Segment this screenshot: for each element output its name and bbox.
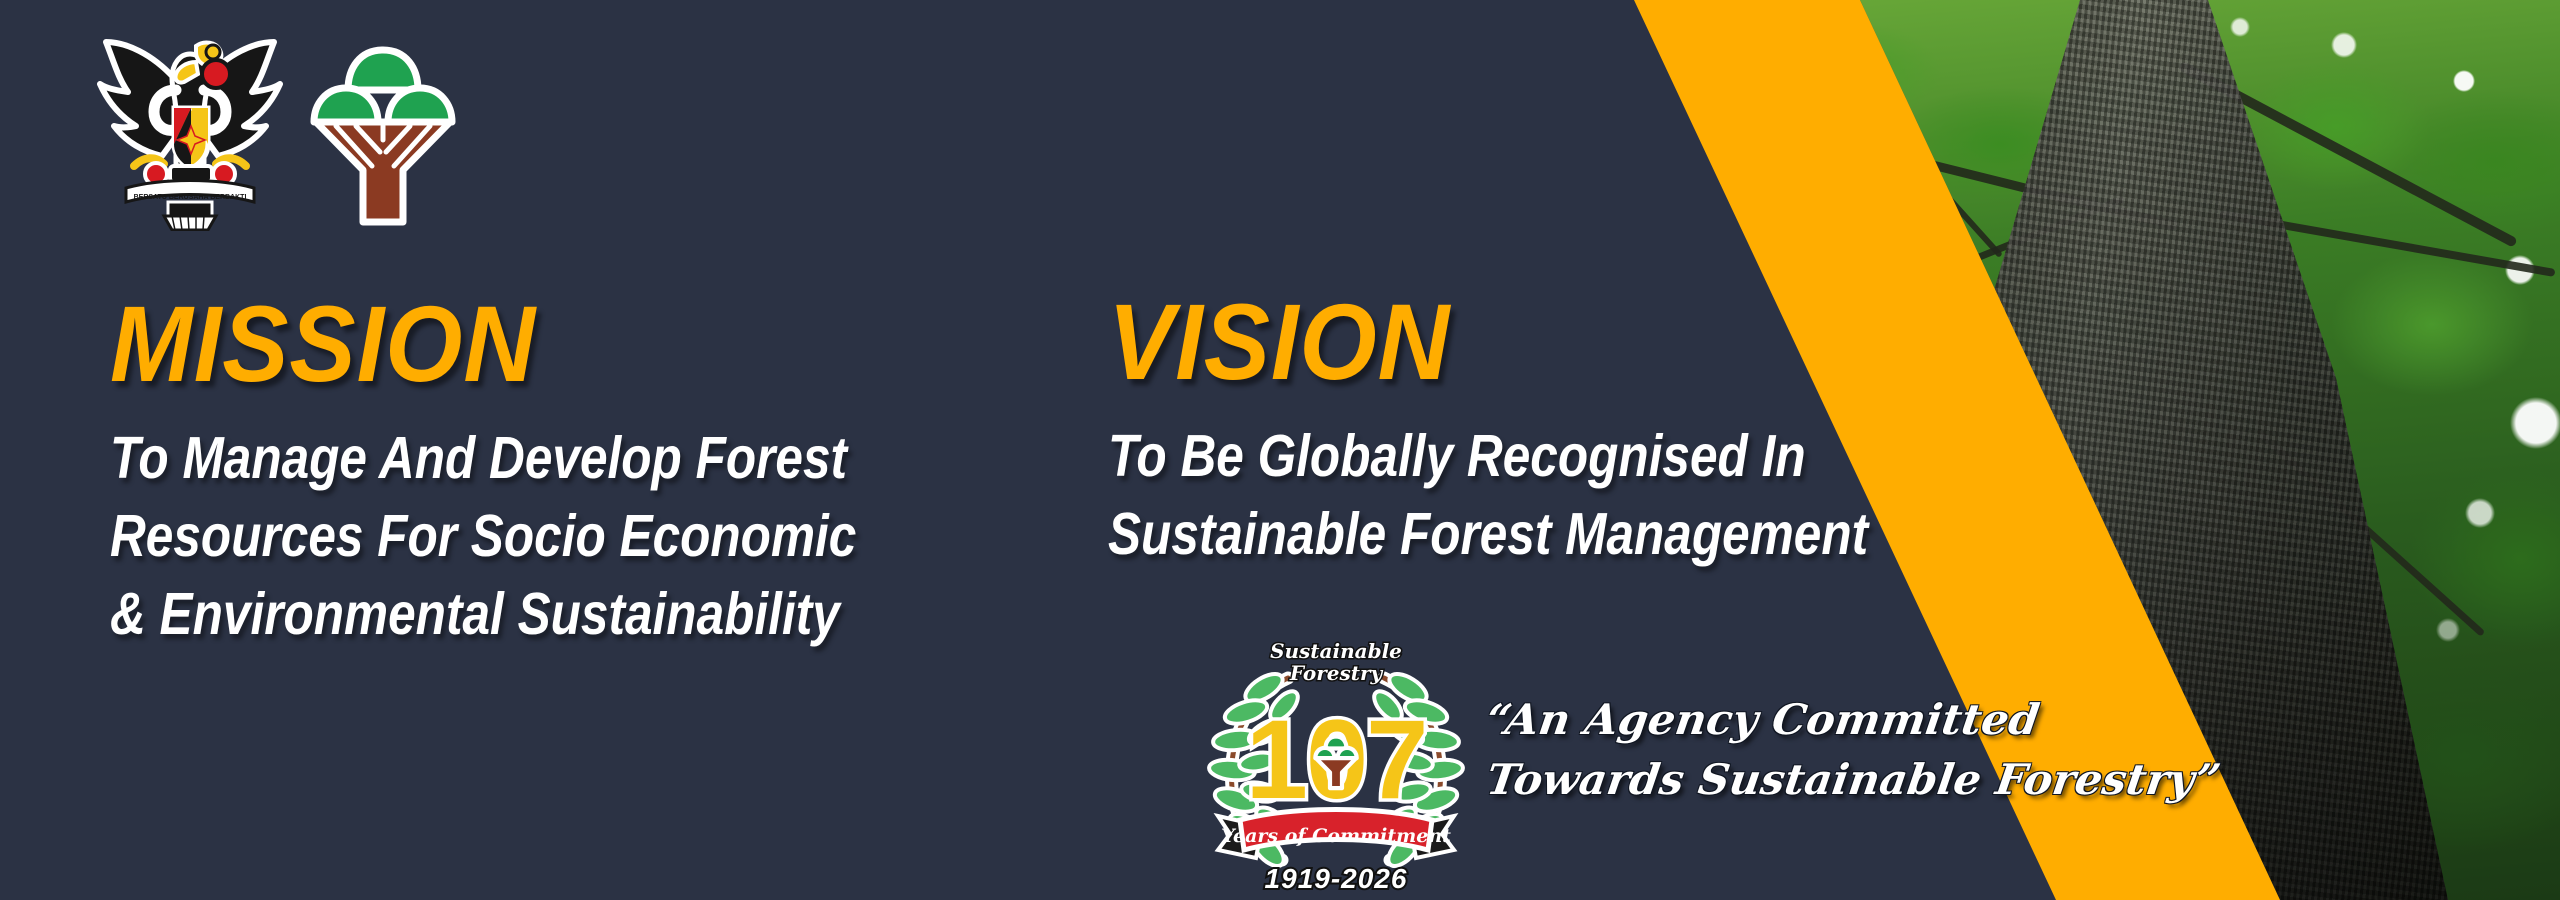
logo-group: BERSATU BERUSAHA BERBAKTI xyxy=(92,16,460,236)
vision-line-1: To Be Globally Recognised In xyxy=(1108,418,1931,496)
vision-heading: VISION xyxy=(1108,288,2010,396)
emblem-top-line-2: Forestry xyxy=(1289,661,1384,685)
mission-column: MISSION To Manage And Develop Forest Res… xyxy=(110,290,1070,654)
tagline-block: “An Agency Committed Towards Sustainable… xyxy=(1487,690,2087,809)
mission-line-2: Resources For Socio Economic xyxy=(110,498,916,576)
vision-column: VISION To Be Globally Recognised In Sust… xyxy=(1108,288,2088,574)
mission-heading: MISSION xyxy=(110,290,993,398)
emblem-years: 1919-2026 xyxy=(1265,863,1408,894)
mission-line-3: & Environmental Sustainability xyxy=(110,576,916,654)
vision-line-2: Sustainable Forest Management xyxy=(1108,496,1931,574)
mission-vision-banner: BERSATU BERUSAHA BERBAKTI xyxy=(0,0,2560,900)
mission-line-1: To Manage And Develop Forest xyxy=(110,420,916,498)
tagline-line-2: Towards Sustainable Forestry” xyxy=(1483,750,2103,810)
tagline-line-1: “An Agency Committed xyxy=(1483,690,2103,750)
emblem-top-line-1: Sustainable xyxy=(1270,639,1402,663)
sarawak-coat-of-arms-icon: BERSATU BERUSAHA BERBAKTI xyxy=(92,16,288,236)
emblem-ribbon-text: Years of Commitment xyxy=(1221,825,1451,847)
crest-motto: BERSATU BERUSAHA BERBAKTI xyxy=(134,194,247,201)
anniversary-107-emblem: Sustainable Forestry 107 Years of Commit… xyxy=(1196,620,1476,900)
forest-department-tree-logo-icon xyxy=(306,40,460,235)
